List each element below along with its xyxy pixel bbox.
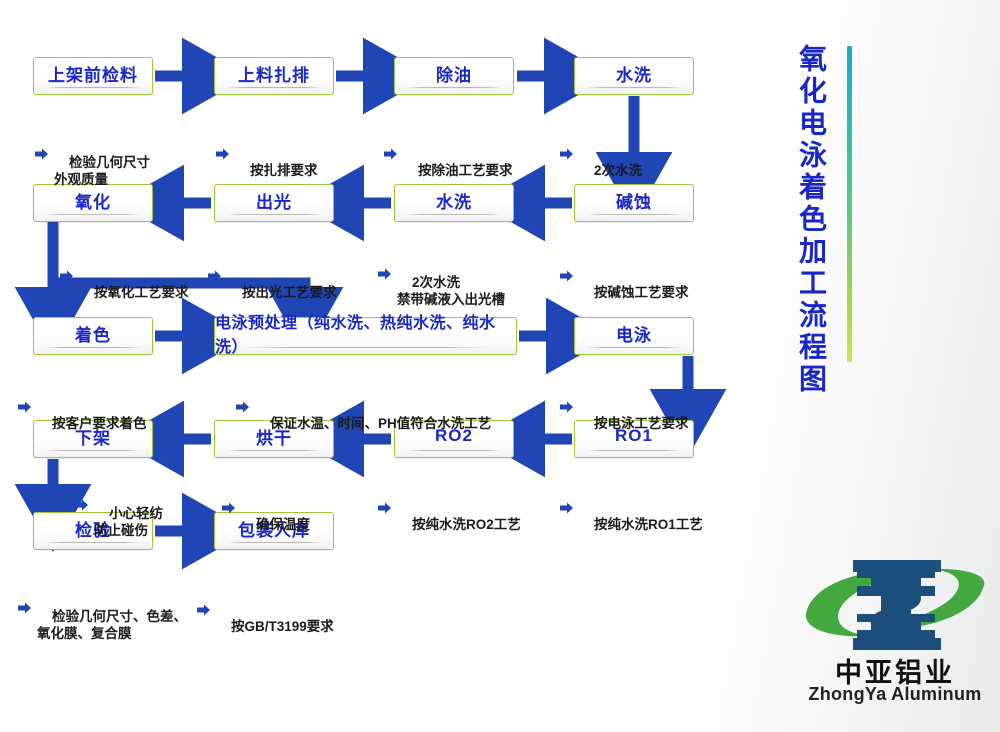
note-chuyou: 按除油工艺要求 bbox=[384, 128, 513, 179]
note-shuixi-jinjian: 2次水洗 禁带碱液入出光槽 bbox=[378, 240, 505, 308]
note-text: 2次水洗 bbox=[594, 163, 642, 178]
arrow-bullet-icon bbox=[208, 269, 221, 282]
note-gbt3199: 按GB/T3199要求 bbox=[197, 584, 334, 635]
note-text: 按纯水洗RO1工艺 bbox=[594, 517, 703, 532]
note-text: 按GB/T3199要求 bbox=[231, 619, 334, 634]
node-jianshi[interactable]: 碱蚀 bbox=[574, 184, 694, 222]
note-text: 检验几何尺寸、色差、 氧化膜、复合膜 bbox=[37, 609, 187, 641]
arrow-bullet-icon bbox=[18, 602, 31, 615]
arrow-bullet-icon bbox=[378, 501, 391, 514]
arrow-bullet-icon bbox=[378, 268, 391, 281]
node-dianyongyuchuli[interactable]: 电泳预处理（纯水洗、热纯水洗、纯水洗） bbox=[214, 317, 517, 355]
node-chuyou[interactable]: 除油 bbox=[394, 57, 514, 95]
node-shuixi-2[interactable]: 水洗 bbox=[394, 184, 514, 222]
node-label: 着色 bbox=[75, 321, 111, 346]
note-shuiwen-ph: 保证水温、时间、PH值符合水洗工艺 bbox=[236, 381, 491, 432]
note-jianshi-gongyi: 按碱蚀工艺要求 bbox=[560, 250, 689, 301]
node-label: 水洗 bbox=[616, 61, 652, 86]
arrow-bullet-icon bbox=[384, 147, 397, 160]
node-label: 碱蚀 bbox=[616, 188, 652, 213]
arrow-bullet-icon bbox=[236, 400, 249, 413]
title-accent-bar bbox=[847, 46, 852, 362]
note-text: 按电泳工艺要求 bbox=[594, 416, 689, 431]
node-shuixi-1[interactable]: 水洗 bbox=[574, 57, 694, 95]
note-text: 小心轻纺 防止碰伤 bbox=[94, 506, 163, 538]
arrow-bullet-icon bbox=[60, 269, 73, 282]
node-chuguang[interactable]: 出光 bbox=[214, 184, 334, 222]
note-text: 确保温度 bbox=[256, 517, 310, 532]
note-text: 按出光工艺要求 bbox=[242, 285, 337, 300]
flowchart-canvas: 上架前检料 上料扎排 除油 水洗 碱蚀 水洗 出光 氧化 着色 电泳预处理（纯水… bbox=[0, 0, 1000, 732]
note-text: 检验几何尺寸 外观质量 bbox=[54, 155, 150, 187]
node-label: 上料扎排 bbox=[238, 61, 310, 86]
company-logo: 中亚铝业 ZhongYa Aluminum bbox=[795, 558, 995, 718]
node-yanghua[interactable]: 氧化 bbox=[33, 184, 153, 222]
note-quebao-wendu: 确保温度 bbox=[222, 482, 310, 533]
node-label: 除油 bbox=[436, 61, 472, 86]
note-xiaoxin-qingfang: 小心轻纺 防止碰伤 bbox=[75, 471, 163, 539]
node-zhuose[interactable]: 着色 bbox=[33, 317, 153, 355]
note-ro2-gongyi: 按纯水洗RO2工艺 bbox=[378, 482, 521, 533]
node-label: 水洗 bbox=[436, 188, 472, 213]
node-shangjiaqianjianliao[interactable]: 上架前检料 bbox=[33, 57, 153, 95]
note-dianyong-gongyi: 按电泳工艺要求 bbox=[560, 381, 689, 432]
node-label: 出光 bbox=[256, 188, 292, 213]
page-title: 氧化电泳着色加工流程图 bbox=[794, 44, 828, 396]
note-text: 2次水洗 禁带碱液入出光槽 bbox=[397, 275, 505, 307]
node-label: 氧化 bbox=[75, 188, 111, 213]
note-jianyan-jihechicun: 检验几何尺寸 外观质量 bbox=[35, 120, 150, 188]
note-shuixi-2ci: 2次水洗 bbox=[560, 128, 642, 179]
note-text: 按碱蚀工艺要求 bbox=[594, 285, 689, 300]
note-yanghua-gongyi: 按氧化工艺要求 bbox=[60, 250, 189, 301]
chart-title-block: 氧化电泳着色加工流程图 bbox=[790, 44, 852, 364]
logo-emblem-icon bbox=[795, 558, 995, 653]
arrow-bullet-icon bbox=[222, 501, 235, 514]
note-jianyan-secha: 检验几何尺寸、色差、 氧化膜、复合膜 bbox=[18, 574, 187, 642]
note-text: 保证水温、时间、PH值符合水洗工艺 bbox=[270, 416, 491, 431]
note-chuguang-gongyi: 按出光工艺要求 bbox=[208, 250, 337, 301]
node-label: 电泳 bbox=[616, 321, 652, 346]
node-label: 上架前检料 bbox=[48, 61, 138, 86]
arrow-bullet-icon bbox=[560, 269, 573, 282]
arrow-bullet-icon bbox=[35, 148, 48, 161]
note-text: 按纯水洗RO2工艺 bbox=[412, 517, 521, 532]
note-ro1-gongyi: 按纯水洗RO1工艺 bbox=[560, 482, 703, 533]
note-text: 按除油工艺要求 bbox=[418, 163, 513, 178]
arrow-bullet-icon bbox=[216, 147, 229, 160]
note-text: 按氧化工艺要求 bbox=[94, 285, 189, 300]
note-text: 按客户要求着色 bbox=[52, 416, 147, 431]
arrow-bullet-icon bbox=[560, 501, 573, 514]
note-zhapai: 按扎排要求 bbox=[216, 128, 318, 179]
note-zhuose-kehu: 按客户要求着色 bbox=[18, 381, 147, 432]
note-text: 按扎排要求 bbox=[250, 163, 318, 178]
node-label: 电泳预处理（纯水洗、热纯水洗、纯水洗） bbox=[215, 309, 516, 357]
arrow-bullet-icon bbox=[75, 499, 88, 512]
node-shangliaozhapai[interactable]: 上料扎排 bbox=[214, 57, 334, 95]
arrow-bullet-icon bbox=[197, 603, 210, 616]
node-dianyong[interactable]: 电泳 bbox=[574, 317, 694, 355]
arrow-bullet-icon bbox=[18, 400, 31, 413]
arrow-bullet-icon bbox=[560, 147, 573, 160]
arrow-bullet-icon bbox=[560, 400, 573, 413]
logo-english-name: ZhongYa Aluminum bbox=[795, 684, 995, 705]
